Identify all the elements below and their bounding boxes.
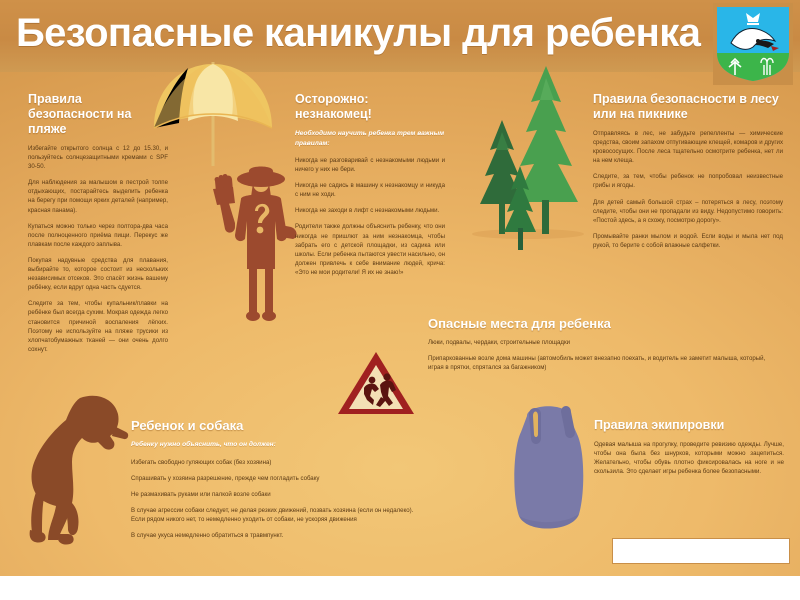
paragraph: Никогда не заходи в лифт с незнакомыми л…	[295, 206, 445, 215]
backpack-illustration	[505, 398, 595, 548]
paragraph: Отправляясь в лес, не забудьте репеллент…	[593, 129, 783, 165]
section-beach-safety: Правила безопасности на пляже Избегайте …	[28, 92, 168, 354]
coat-of-arms	[713, 3, 793, 85]
paragraph: Купаться можно только через полтора-два …	[28, 222, 168, 249]
paragraph: Для детей самый большой страх – потерять…	[593, 198, 783, 225]
paragraph: Одевая малыша на прогулку, проведите рев…	[594, 440, 784, 476]
children-crossing-warning-sign	[334, 348, 418, 418]
paragraph: Люки, подвалы, чердаки, строительные пло…	[428, 338, 780, 347]
paragraph: В случае укуса немедленно обратиться в т…	[131, 531, 421, 540]
page-title: Безопасные каникулы для ребенка	[16, 10, 706, 56]
section-lead: Ребенку нужно объяснить, что он должен:	[131, 440, 421, 450]
section-dangerous-places: Опасные места для ребенка Люки, подвалы,…	[428, 316, 780, 372]
section-title: Правила безопасности на пляже	[28, 92, 168, 137]
fir-trees-illustration	[462, 62, 590, 324]
paragraph: Спрашивать у хозяина разрешение, прежде …	[131, 474, 421, 483]
paragraph: Припаркованные возле дома машины (автомо…	[428, 354, 780, 372]
section-title: Ребенок и собака	[131, 418, 421, 433]
section-title: Опасные места для ребенка	[428, 316, 780, 331]
section-title: Правила безопасности в лесу или на пикни…	[593, 92, 783, 122]
paragraph: Покупая надувные средства для плавания, …	[28, 256, 168, 292]
section-lead: Необходимо научить ребенка трем важным п…	[295, 129, 445, 148]
paragraph: Никогда не садись в машину к незнакомцу …	[295, 181, 445, 199]
section-body: Избегать свободно гуляющих собак (без хо…	[131, 458, 421, 541]
section-body: Люки, подвалы, чердаки, строительные пло…	[428, 338, 780, 372]
section-child-and-dog: Ребенок и собака Ребенку нужно объяснить…	[131, 418, 421, 540]
section-forest-picnic-safety: Правила безопасности в лесу или на пикни…	[593, 92, 783, 250]
paragraph: Не размахивать руками или палкой возле с…	[131, 490, 421, 499]
paragraph: Следите, за тем, чтобы ребенок не попроб…	[593, 172, 783, 190]
section-body: Одевая малыша на прогулку, проведите рев…	[594, 440, 784, 476]
paragraph: В случае агрессии собаки следует, не дел…	[131, 506, 421, 524]
paragraph: Никогда не разговаривай с незнакомыми лю…	[295, 156, 445, 174]
section-title: Осторожно: незнакомец!	[295, 92, 445, 122]
text-input[interactable]	[613, 539, 789, 563]
section-stranger-danger: Осторожно: незнакомец! Необходимо научит…	[295, 92, 445, 277]
paragraph: Для наблюдения за малышом в пестрой толп…	[28, 178, 168, 214]
section-equipment-rules: Правила экипировки Одевая малыша на прог…	[594, 418, 784, 476]
paragraph: Следите за тем, чтобы купальник/плавки н…	[28, 299, 168, 354]
paragraph: Промывайте ранки мылом и водой. Если вод…	[593, 232, 783, 250]
paragraph: Избегать свободно гуляющих собак (без хо…	[131, 458, 421, 467]
section-body: Избегайте открытого солнца с 12 до 15.30…	[28, 144, 168, 354]
poster-root: Безопасные каникулы для ребенка	[0, 0, 800, 600]
text-input-box[interactable]	[612, 538, 790, 564]
section-body: Никогда не разговаривай с незнакомыми лю…	[295, 156, 445, 277]
bottom-white-strip	[0, 576, 800, 600]
section-body: Отправляясь в лес, не забудьте репеллент…	[593, 129, 783, 250]
dog-silhouette-illustration	[18, 382, 136, 554]
paragraph: Избегайте открытого солнца с 12 до 15.30…	[28, 144, 168, 171]
paragraph: Родители также должны объяснить ребенку,…	[295, 222, 445, 277]
section-title: Правила экипировки	[594, 418, 784, 433]
